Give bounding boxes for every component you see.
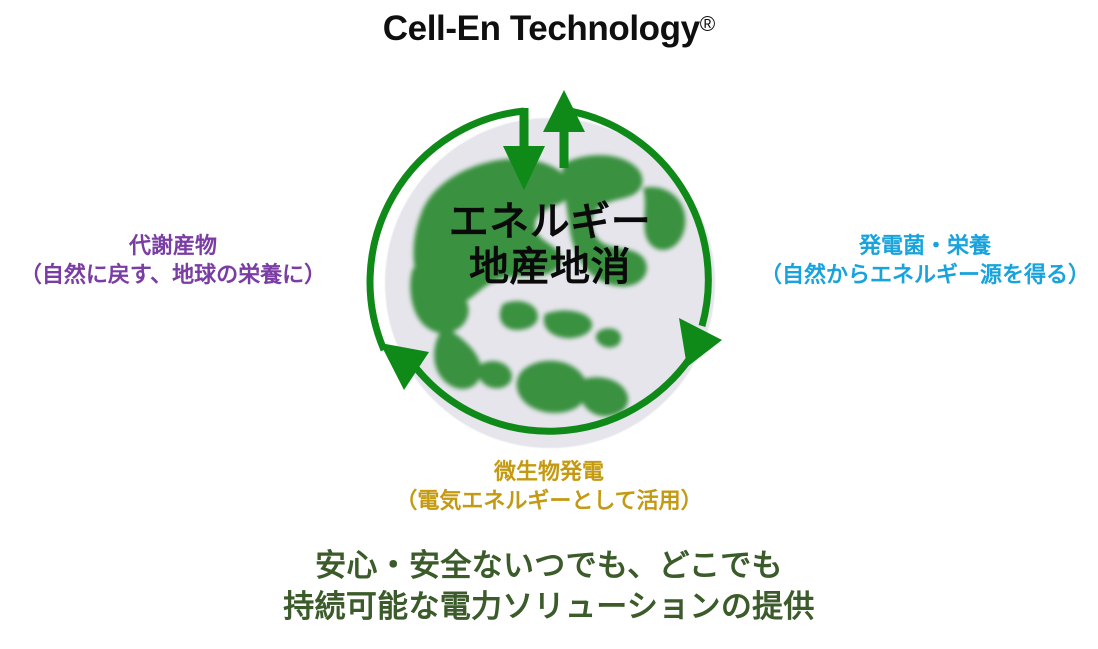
arc-bottom: [416, 358, 690, 431]
node-label-power-generating-bacteria: 発電菌・栄養 （自然からエネルギー源を得る）: [752, 232, 1098, 289]
page-title: Cell-En Technology®: [0, 8, 1098, 50]
arrow-down-into-globe: [503, 108, 545, 190]
node-label-microbial-power-generation-title: 微生物発電: [494, 459, 604, 484]
page-title-text: Cell-En Technology: [383, 9, 700, 48]
cycle-diagram: エネルギー 地産地消: [338, 68, 762, 452]
node-label-microbial-power-generation-detail: （電気エネルギーとして活用）: [326, 487, 772, 516]
center-label-line1: エネルギー: [449, 200, 652, 244]
registered-trademark-icon: ®: [700, 13, 715, 36]
center-label: エネルギー 地産地消: [338, 200, 762, 290]
node-label-metabolite-title: 代謝産物: [129, 233, 217, 258]
arrow-bottom-left-counterclockwise: [380, 343, 429, 390]
arrow-up-out-of-globe: [543, 90, 585, 168]
center-label-line2: 地産地消: [469, 245, 631, 289]
node-label-metabolite: 代謝産物 （自然に戻す、地球の栄養に）: [0, 232, 346, 289]
node-label-microbial-power-generation: 微生物発電 （電気エネルギーとして活用）: [326, 458, 772, 515]
tagline-line1: 安心・安全ないつでも、どこでも: [315, 548, 783, 583]
node-label-metabolite-detail: （自然に戻す、地球の栄養に）: [0, 261, 346, 290]
tagline: 安心・安全ないつでも、どこでも 持続可能な電力ソリューションの提供: [0, 546, 1098, 628]
slide-canvas: Cell-En Technology®: [0, 0, 1098, 649]
tagline-line2: 持続可能な電力ソリューションの提供: [0, 587, 1098, 628]
node-label-power-generating-bacteria-detail: （自然からエネルギー源を得る）: [752, 261, 1098, 290]
node-label-power-generating-bacteria-title: 発電菌・栄養: [859, 233, 991, 258]
